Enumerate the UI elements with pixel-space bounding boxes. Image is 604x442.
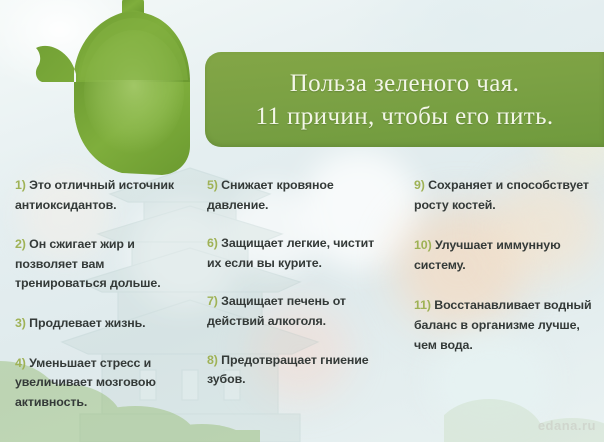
infographic-poster: Польза зеленого чая. 11 причин, чтобы ег… [0,0,604,442]
item-marker: 6) [207,236,218,250]
list-item: 1) Это отличный источник антиоксидантов. [15,176,184,215]
list-item: 2) Он сжигает жир и позволяет вам тренир… [15,235,184,294]
list-item: 11) Восстанавливает водный баланс в орга… [414,296,596,355]
list-item: 3) Продлевает жизнь. [15,314,184,334]
item-marker: 9) [414,178,425,192]
watermark-text: edana.ru [538,418,596,433]
column-right: 9) Сохраняет и способствует росту костей… [401,176,604,432]
item-marker: 3) [15,316,26,330]
item-text: Улучшает иммунную систему. [414,238,561,272]
list-item: 4) Уменьшает стресс и увеличивает мозгов… [15,354,184,413]
list-item: 7) Защищает печень от действий алкоголя. [207,292,391,331]
item-marker: 10) [414,238,432,252]
item-text: Это отличный источник антиоксидантов. [15,178,174,212]
list-item: 10) Улучшает иммунную систему. [414,236,596,275]
item-text: Снижает кровяное давление. [207,178,334,212]
page-title-line-1: Польза зеленого чая. [290,67,520,100]
item-marker: 7) [207,294,218,308]
column-left: 1) Это отличный источник антиоксидантов.… [0,176,198,432]
item-text: Защищает легкие, чистит их если вы курит… [207,236,374,270]
item-marker: 1) [15,178,26,192]
item-text: Уменьшает стресс и увеличивает мозговою … [15,356,156,409]
list-item: 5) Снижает кровяное давление. [207,176,391,215]
page-title-line-2: 11 причин, чтобы его пить. [255,100,553,133]
list-item: 9) Сохраняет и способствует росту костей… [414,176,596,215]
item-marker: 8) [207,353,218,367]
item-marker: 11) [414,298,431,312]
item-text: Продлевает жизнь. [29,316,145,330]
item-marker: 4) [15,356,26,370]
list-item: 6) Защищает легкие, чистит их если вы ку… [207,234,391,273]
item-text: Предотвращает гниение зубов. [207,353,369,387]
list-item: 8) Предотвращает гниение зубов. [207,351,391,390]
column-middle: 5) Снижает кровяное давление. 6) Защищае… [198,176,401,432]
item-text: Он сжигает жир и позволяет вам тренирова… [15,237,161,290]
item-marker: 5) [207,178,218,192]
item-text: Защищает печень от действий алкоголя. [207,294,346,328]
title-banner: Польза зеленого чая. 11 причин, чтобы ег… [205,52,604,147]
reasons-columns: 1) Это отличный источник антиоксидантов.… [0,176,604,432]
item-text: Восстанавливает водный баланс в организм… [414,298,591,351]
item-marker: 2) [15,237,26,251]
item-text: Сохраняет и способствует росту костей. [414,178,589,212]
